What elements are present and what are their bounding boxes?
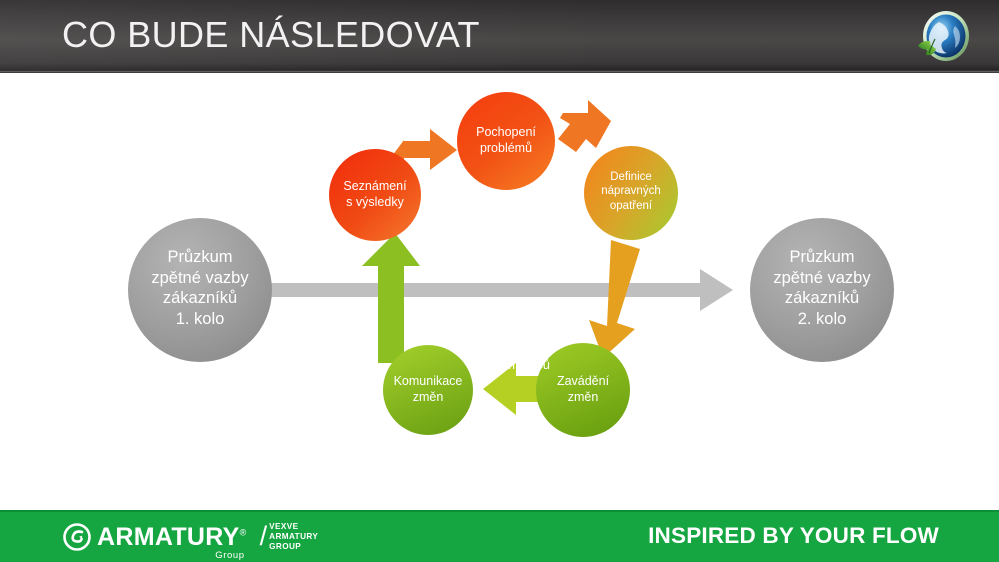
diagram-canvas	[0, 73, 999, 505]
node-survey-round-1	[128, 218, 272, 362]
registered-mark: ®	[240, 527, 247, 537]
arrow-komunikace-to-seznameni	[362, 233, 420, 363]
slide: CO BUDE NÁSLEDOVAT	[0, 0, 999, 562]
slide-footer: ARMATURY® Group / VEXVE ARMATURY GROUP I…	[0, 510, 999, 562]
process-cycle-diagram: Průzkum zpětné vazby zákazníků 1. kolo P…	[0, 73, 999, 505]
timeline-arrow-label: 12 měsíců	[455, 357, 585, 372]
footer-tagline: INSPIRED BY YOUR FLOW	[648, 523, 939, 549]
brand-subtitle: Group	[215, 551, 244, 561]
arrow-pochopeni-to-definice	[558, 100, 611, 152]
vexve-lines: VEXVE ARMATURY GROUP	[269, 522, 318, 551]
node-survey-round-2	[750, 218, 894, 362]
slide-header: CO BUDE NÁSLEDOVAT	[0, 0, 999, 73]
armatury-wordmark: ARMATURY® Group	[97, 525, 247, 550]
armatury-logo: ARMATURY® Group / VEXVE ARMATURY GROUP	[62, 522, 318, 552]
node-definice	[584, 146, 678, 240]
footer-top-edge	[0, 510, 999, 512]
node-pochopeni	[457, 92, 555, 190]
vexve-armatury-group-logo: / VEXVE ARMATURY GROUP	[260, 522, 319, 551]
globe-leaf-icon	[913, 6, 973, 66]
page-title: CO BUDE NÁSLEDOVAT	[62, 14, 480, 56]
timeline-arrow	[195, 269, 733, 311]
node-seznameni	[329, 149, 421, 241]
brand-name: ARMATURY	[97, 523, 240, 551]
armatury-swirl-icon	[62, 522, 92, 552]
slash-icon: /	[260, 523, 268, 550]
arrow-definice-to-zavadeni	[589, 240, 640, 358]
